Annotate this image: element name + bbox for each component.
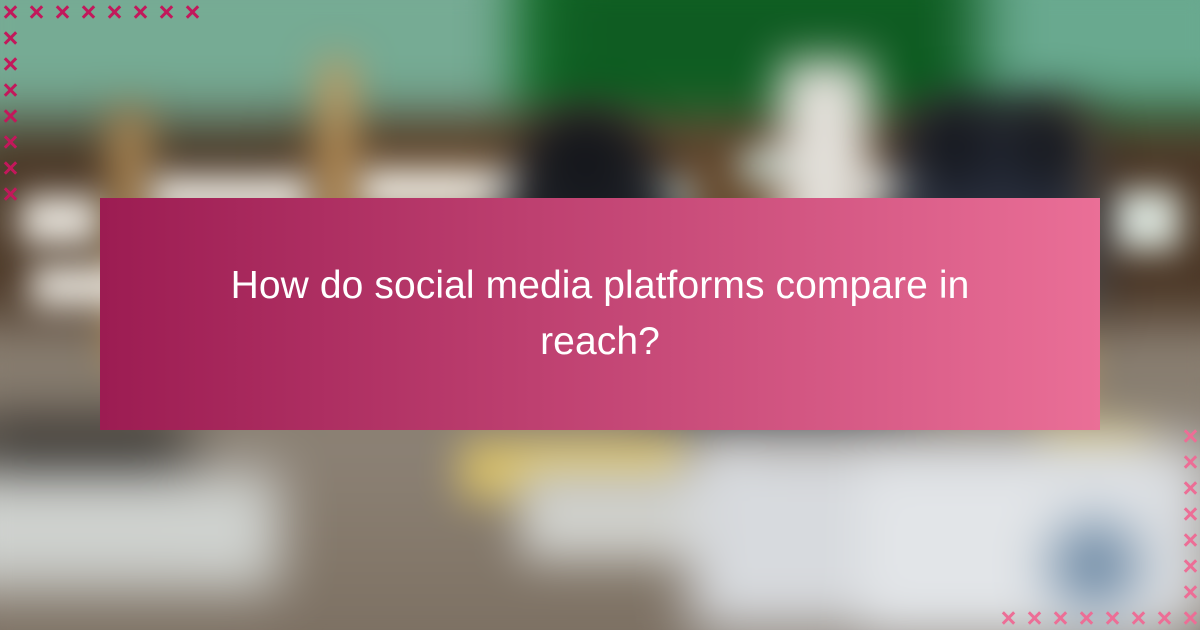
person-head — [905, 100, 1000, 190]
shelf-item — [20, 195, 100, 245]
desk-object-blue — [1050, 520, 1140, 610]
person-head — [530, 112, 640, 207]
page-title: How do social media platforms compare in… — [220, 258, 980, 370]
shelf-item — [1110, 190, 1180, 250]
title-banner: How do social media platforms compare in… — [100, 198, 1100, 430]
person-head — [1000, 100, 1095, 190]
social-share-card: How do social media platforms compare in… — [0, 0, 1200, 630]
wall-upper-right — [980, 0, 1200, 120]
paper-stack-left — [0, 470, 280, 590]
